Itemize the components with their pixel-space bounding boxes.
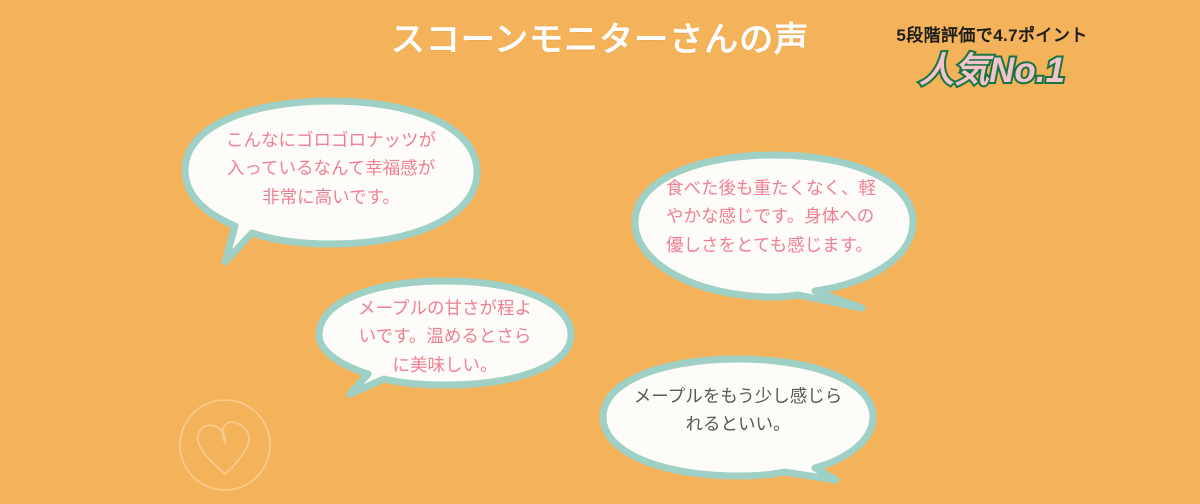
testimonial-text: こんなにゴロゴロナッツが 入っているなんて幸福感が 非常に高いです。 <box>200 126 462 211</box>
rating-score-text: 5段階評価で4.7ポイント <box>862 26 1122 46</box>
rating-badge: 5段階評価で4.7ポイント 人気No.1 <box>862 26 1122 91</box>
testimonial-text: メープルの甘さが程よ いです。温めるとさら に美味しい。 <box>332 294 558 379</box>
heart-in-circle-icon <box>176 396 274 494</box>
testimonial-bubble-maple-more: メープルをもう少し感じら れるといい。 <box>598 356 878 484</box>
rank-no1-text: 人気No.1 <box>862 52 1122 91</box>
testimonial-bubble-nuts: こんなにゴロゴロナッツが 入っているなんて幸福感が 非常に高いです。 <box>180 98 482 266</box>
testimonial-banner: スコーンモニターさんの声 5段階評価で4.7ポイント 人気No.1 こんなにゴロ… <box>0 0 1200 504</box>
testimonial-bubble-light: 食べた後も重たくなく、軽 やかな感じです。身体への 優しさをとても感じます。 <box>630 152 918 312</box>
testimonial-bubble-maple-sweetness: メープルの甘さが程よ いです。温めるとさら に美味しい。 <box>314 278 576 398</box>
testimonial-text: 食べた後も重たくなく、軽 やかな感じです。身体への 優しさをとても感じます。 <box>666 174 902 259</box>
testimonial-text: メープルをもう少し感じら れるといい。 <box>622 382 854 439</box>
